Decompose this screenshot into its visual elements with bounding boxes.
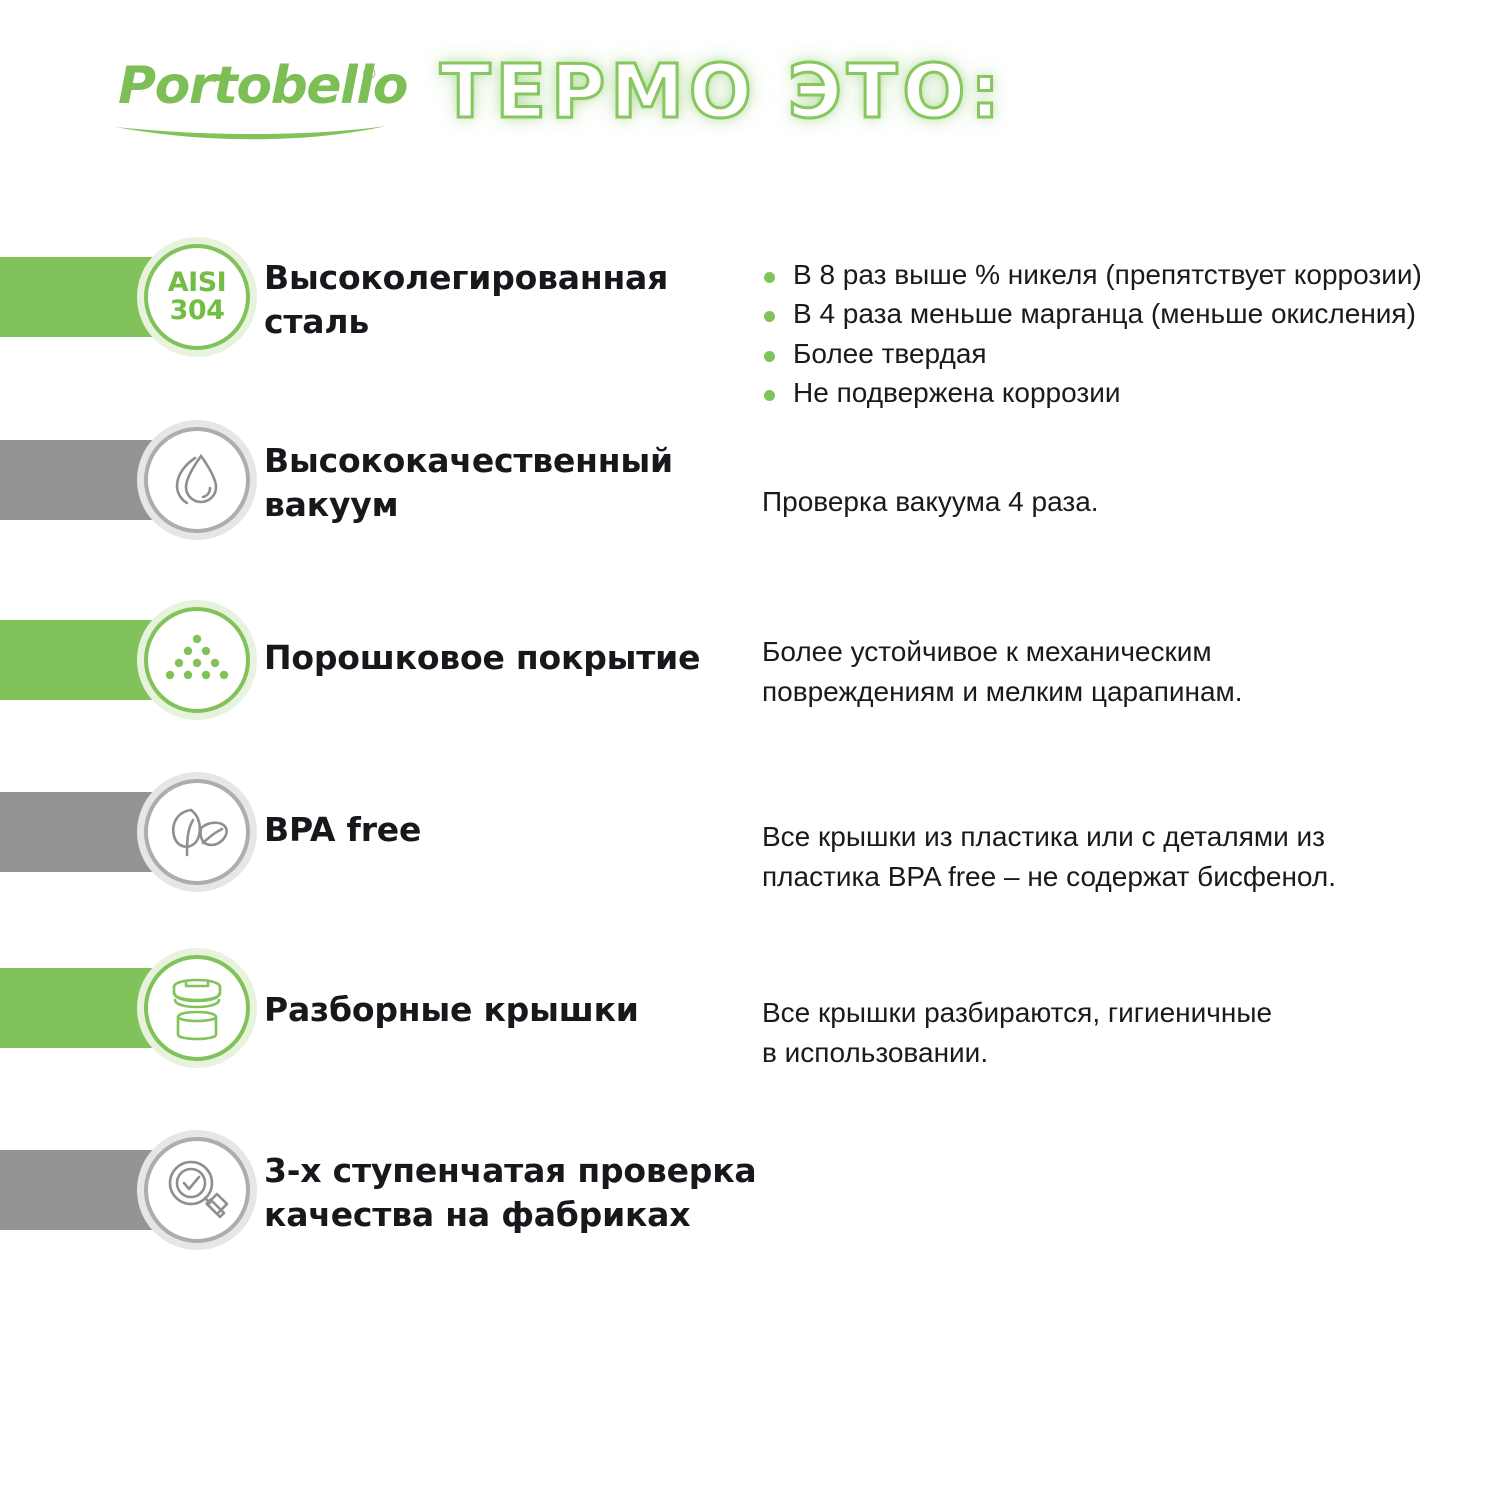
feature-badge-aisi304: AISI 304: [137, 237, 257, 357]
feature-title: BPA free: [264, 808, 421, 852]
list-item: Не подвержена коррозии: [760, 373, 1422, 412]
leaves-icon: [144, 779, 250, 885]
magnifier-check-icon: [144, 1137, 250, 1243]
powder-dots-icon: [144, 607, 250, 713]
feature-list: AISI 304 Высоколегированная сталь В 8 ра…: [0, 0, 1500, 1500]
feature-description: Более устойчивое к механическим поврежде…: [762, 632, 1243, 712]
list-item: Более твердая: [760, 334, 1422, 373]
aisi-label: AISI: [168, 269, 226, 297]
list-item: В 4 раза меньше марганца (меньше окислен…: [760, 294, 1422, 333]
feature-badge-bpa-free: [137, 772, 257, 892]
feature-badge-quality-check: [137, 1130, 257, 1250]
feature-title: Высоколегированная сталь: [264, 256, 668, 343]
feature-title: Разборные крышки: [264, 988, 639, 1032]
feature-bullet-list: В 8 раз выше % никеля (препятствует корр…: [760, 255, 1422, 413]
list-item: В 8 раз выше % никеля (препятствует корр…: [760, 255, 1422, 294]
feature-badge-vacuum: [137, 420, 257, 540]
feature-title: 3-х ступенчатая проверка качества на фаб…: [264, 1149, 756, 1236]
detachable-lid-icon: [144, 955, 250, 1061]
feature-title: Высококачественный вакуум: [264, 439, 673, 526]
feature-title: Порошковое покрытие: [264, 636, 700, 680]
feature-description: Все крышки из пластика или с деталями из…: [762, 817, 1336, 897]
aisi-grade: 304: [168, 297, 226, 325]
feature-badge-detachable-lids: [137, 948, 257, 1068]
water-droplet-icon: [144, 427, 250, 533]
feature-description: Проверка вакуума 4 раза.: [762, 482, 1099, 522]
feature-description: Все крышки разбираются, гигиеничные в ис…: [762, 993, 1272, 1073]
aisi-304-icon: AISI 304: [144, 244, 250, 350]
feature-badge-powder-coating: [137, 600, 257, 720]
